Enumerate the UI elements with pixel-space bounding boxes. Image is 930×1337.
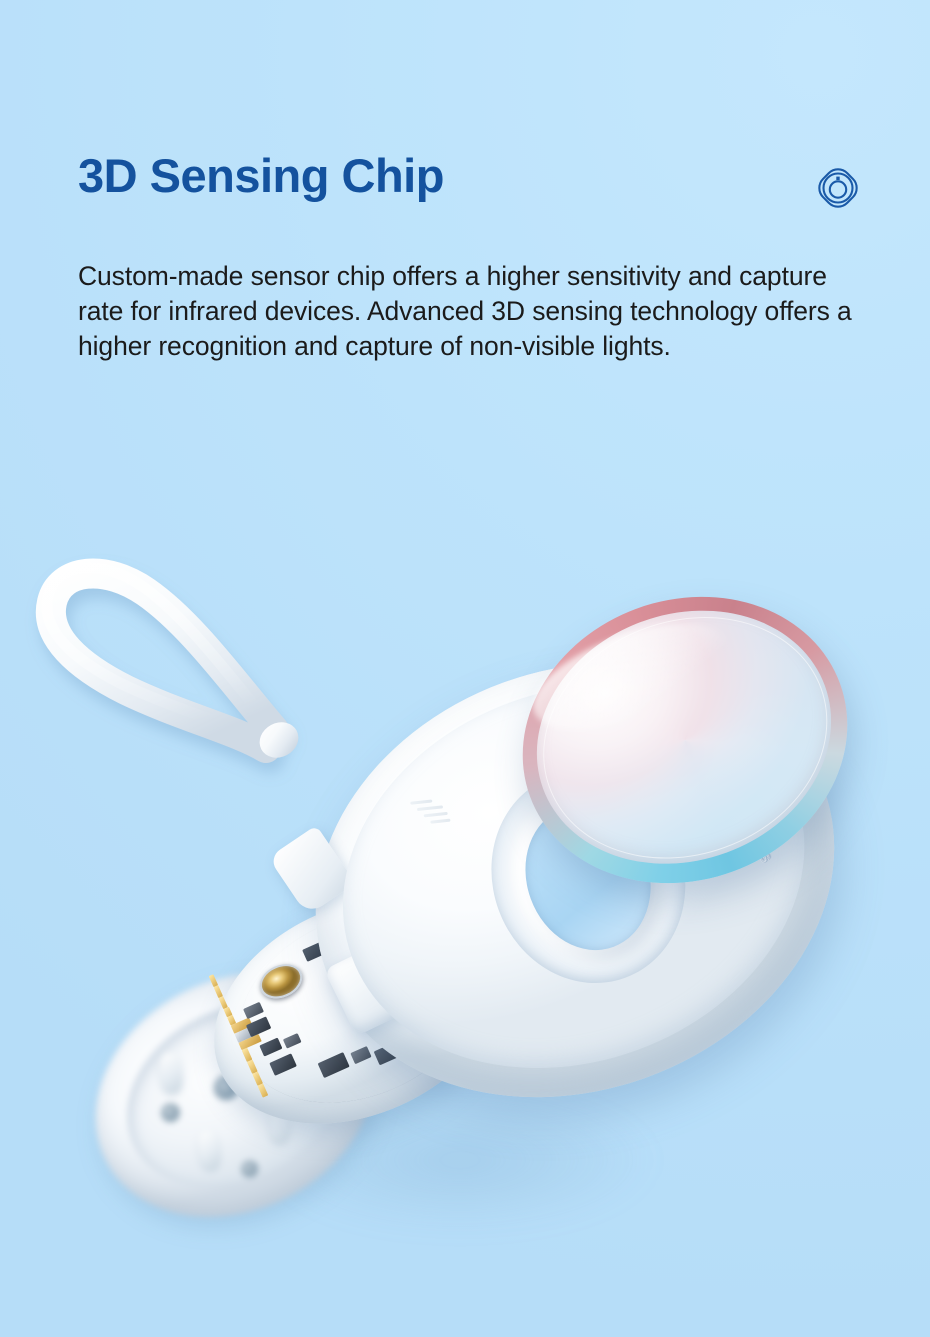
title-row: 3D Sensing Chip — [78, 152, 868, 219]
sensor-chip-icon — [812, 162, 864, 219]
page-title: 3D Sensing Chip — [78, 152, 444, 200]
product-exploded-view: Baseus — [0, 500, 930, 1300]
speaker-grille-icon — [410, 794, 465, 829]
header-block: 3D Sensing Chip Custom-made sensor chip … — [78, 152, 868, 364]
description-text: Custom-made sensor chip offers a higher … — [78, 219, 853, 364]
product-feature-page: 3D Sensing Chip Custom-made sensor chip … — [0, 0, 930, 1337]
